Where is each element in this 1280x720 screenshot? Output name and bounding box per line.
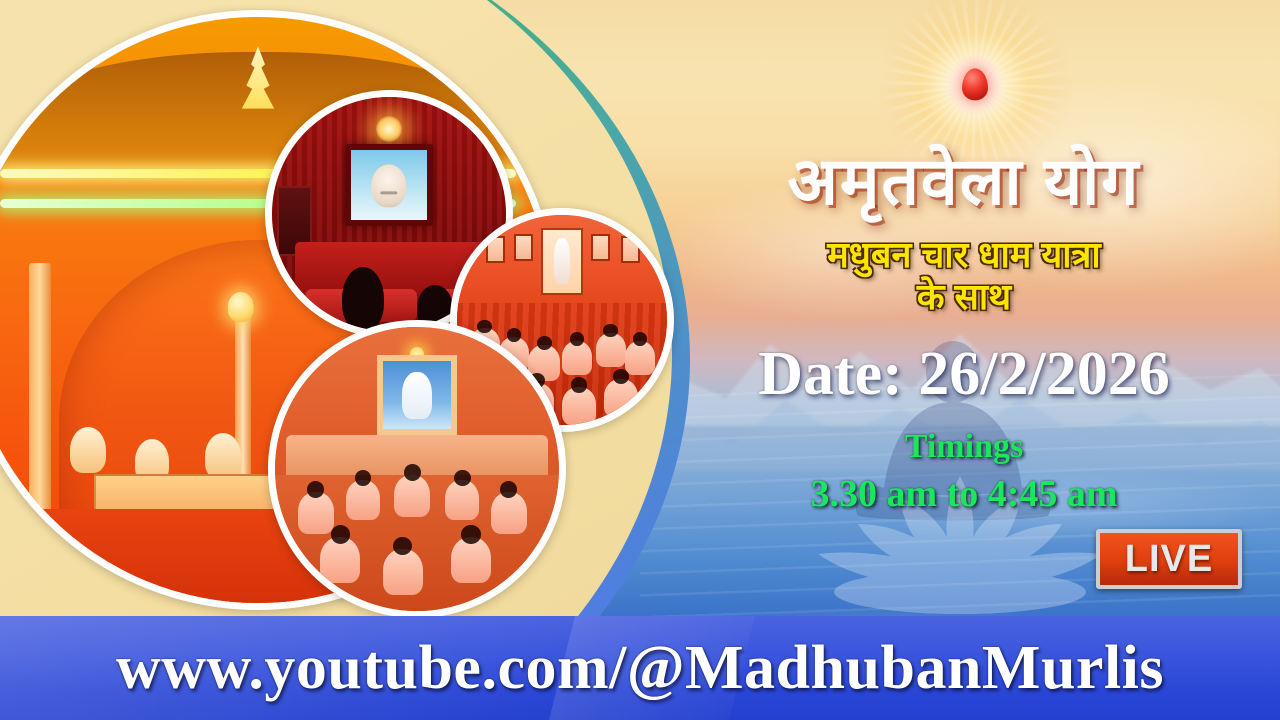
hall-shrine [541,228,583,295]
wall-picture [591,234,610,261]
satsang-portrait-frame [377,355,457,435]
portrait-frame [345,144,434,226]
channel-url[interactable]: www.youtube.com/@MadhubanMurlis [116,633,1164,704]
seated-person [451,537,491,583]
seated-person [394,475,430,517]
subtitle: मधुबन चार धाम यात्रा के साथ [827,234,1101,319]
seated-figure [205,433,241,479]
live-badge[interactable]: LIVE [1096,529,1242,589]
seated-person [346,480,380,520]
portrait-face [371,164,406,207]
page-title: अमृतवेला योग [788,148,1141,214]
text-column: अमृतवेला योग मधुबन चार धाम यात्रा के साथ… [648,0,1280,616]
timings-value: 3.30 am to 4:45 am [810,472,1117,516]
silhouette-head [342,267,384,331]
seated-person [604,379,638,417]
temple-pillar-left [29,263,51,533]
seated-person [445,480,479,520]
timings-label: Timings [905,428,1023,466]
seated-person [491,492,527,534]
url-banner: www.youtube.com/@MadhubanMurlis [0,616,1280,720]
seated-person [383,549,423,595]
wall-picture [486,236,505,263]
seated-portrait-figure [402,372,432,419]
ceiling-lamp [376,116,402,142]
poster-canvas: अमृतवेला योग मधुबन चार धाम यात्रा के साथ… [0,0,1280,720]
event-date: Date: 26/2/2026 [758,339,1170,410]
satsang-room-photo [275,327,559,611]
tower-lamp [227,292,253,322]
seated-person [320,537,360,583]
seated-person [298,492,334,534]
seated-person [596,333,626,367]
seated-figure [70,427,106,473]
photo-satsang-room [268,320,566,618]
wall-picture [621,236,640,263]
seated-person [562,387,596,425]
wall-picture [514,234,533,261]
seated-person [562,341,592,375]
live-badge-label: LIVE [1125,538,1213,581]
